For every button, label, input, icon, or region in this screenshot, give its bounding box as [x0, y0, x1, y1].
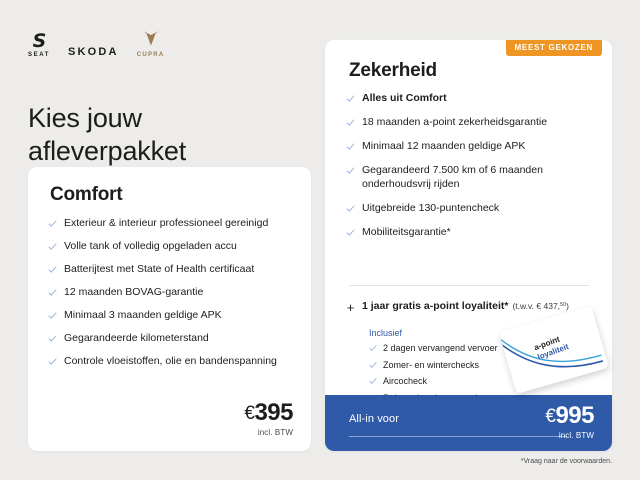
footnote: *Vraag naar de voorwaarden.: [521, 458, 612, 465]
section-divider: [349, 285, 589, 286]
comfort-price: €395: [244, 401, 293, 425]
bonus-value-note: (t.w.v. € 437,50): [512, 301, 569, 311]
check-icon: [346, 204, 355, 213]
zekerheid-price-note: incl. BTW: [545, 431, 594, 440]
brand-seat: S SEAT: [28, 32, 50, 58]
check-icon: [48, 265, 57, 274]
list-item: Gegarandeerd 7.500 km of 6 maanden onder…: [346, 164, 598, 192]
check-icon: [346, 228, 355, 237]
seat-logo-icon: S: [29, 32, 48, 50]
inclusief-text: Zomer- en winterchecks: [383, 360, 479, 372]
list-item: Mobiliteitsgarantie*: [346, 226, 598, 240]
check-icon: [346, 118, 355, 127]
check-icon: [369, 344, 377, 352]
page-title-line1: Kies jouw: [28, 103, 142, 133]
plus-icon: +: [346, 301, 355, 314]
list-item: Uitgebreide 130-puntencheck: [346, 202, 598, 216]
list-item: Alles uit Comfort: [346, 92, 598, 106]
list-item: Batterijtest met State of Health certifi…: [48, 263, 296, 277]
footer-rule: [349, 436, 567, 437]
package-card-zekerheid[interactable]: MEEST GEKOZEN Zekerheid Alles uit Comfor…: [325, 40, 612, 451]
bonus-label: 1 jaar gratis a-point loyaliteit*: [362, 300, 508, 312]
comfort-title: Comfort: [50, 184, 122, 206]
check-icon: [346, 142, 355, 151]
feature-text: Mobiliteitsgarantie*: [362, 226, 451, 240]
bonus-row: + 1 jaar gratis a-point loyaliteit*(t.w.…: [346, 300, 598, 314]
check-icon: [48, 288, 57, 297]
status-badge: MEEST GEKOZEN: [506, 40, 602, 56]
list-item: 18 maanden a-point zekerheidsgarantie: [346, 116, 598, 130]
brand-skoda: SKODA: [68, 47, 119, 58]
check-icon: [48, 311, 57, 320]
list-item: Minimaal 3 maanden geldige APK: [48, 309, 296, 323]
bonus-value-prefix: (t.w.v. € 437,: [512, 301, 560, 311]
check-icon: [48, 242, 57, 251]
offer-page: S SEAT SKODA CUPRA Kies jouw afleverpakk…: [0, 0, 640, 480]
feature-text: Exterieur & interieur professioneel gere…: [64, 217, 268, 231]
feature-text: 12 maanden BOVAG-garantie: [64, 286, 203, 300]
comfort-price-note: incl. BTW: [244, 428, 293, 437]
skoda-logo-icon: SKODA: [68, 47, 119, 58]
list-item: Controle vloeistoffen, olie en bandenspa…: [48, 355, 296, 369]
comfort-feature-list: Exterieur & interieur professioneel gere…: [48, 217, 296, 378]
package-card-comfort[interactable]: Comfort Exterieur & interieur profession…: [28, 167, 311, 451]
feature-text: Alles uit Comfort: [362, 92, 447, 106]
feature-text: Batterijtest met State of Health certifi…: [64, 263, 254, 277]
comfort-price-block: €395 incl. BTW: [244, 401, 293, 437]
bonus-text: 1 jaar gratis a-point loyaliteit*(t.w.v.…: [362, 300, 569, 314]
feature-text: 18 maanden a-point zekerheidsgarantie: [362, 116, 547, 130]
feature-text: Uitgebreide 130-puntencheck: [362, 202, 499, 216]
list-item: 12 maanden BOVAG-garantie: [48, 286, 296, 300]
check-icon: [48, 357, 57, 366]
list-item: Volle tank of volledig opgeladen accu: [48, 240, 296, 254]
currency-symbol: €: [545, 406, 555, 427]
check-icon: [48, 334, 57, 343]
list-item: Exterieur & interieur professioneel gere…: [48, 217, 296, 231]
feature-text: Minimaal 3 maanden geldige APK: [64, 309, 222, 323]
feature-text: Volle tank of volledig opgeladen accu: [64, 240, 237, 254]
check-icon: [48, 219, 57, 228]
check-icon: [346, 166, 355, 175]
check-icon: [369, 377, 377, 385]
price-amount: 995: [555, 402, 594, 429]
brand-logo-bar: S SEAT SKODA CUPRA: [28, 30, 165, 58]
list-item: Gegarandeerde kilometerstand: [48, 332, 296, 346]
currency-symbol: €: [244, 403, 254, 424]
list-item: Minimaal 12 maanden geldige APK: [346, 140, 598, 154]
check-icon: [369, 361, 377, 369]
inclusief-text: 2 dagen vervangend vervoer: [383, 343, 498, 355]
feature-text: Controle vloeistoffen, olie en bandenspa…: [64, 355, 277, 369]
feature-text: Gegarandeerd 7.500 km of 6 maanden onder…: [362, 164, 598, 192]
price-amount: 395: [254, 399, 293, 426]
brand-seat-wordmark: SEAT: [28, 52, 50, 58]
inclusief-text: Aircocheck: [383, 376, 427, 388]
zekerheid-price: €995: [545, 404, 594, 428]
zekerheid-feature-list: Alles uit Comfort 18 maanden a-point zek…: [346, 92, 598, 250]
page-title-line2: afleverpakket: [28, 136, 186, 166]
feature-text: Minimaal 12 maanden geldige APK: [362, 140, 525, 154]
zekerheid-price-block: €995 incl. BTW: [545, 404, 594, 440]
bonus-value-suffix: ): [566, 301, 569, 311]
cupra-logo-icon: [141, 30, 161, 50]
brand-cupra-wordmark: CUPRA: [137, 52, 165, 58]
check-icon: [346, 94, 355, 103]
zekerheid-title: Zekerheid: [349, 60, 437, 82]
feature-text: Gegarandeerde kilometerstand: [64, 332, 209, 346]
page-title: Kies jouw afleverpakket: [28, 102, 186, 168]
allin-label: All-in voor: [349, 413, 399, 425]
zekerheid-price-footer: All-in voor €995 incl. BTW: [325, 395, 612, 451]
brand-cupra: CUPRA: [137, 30, 165, 58]
